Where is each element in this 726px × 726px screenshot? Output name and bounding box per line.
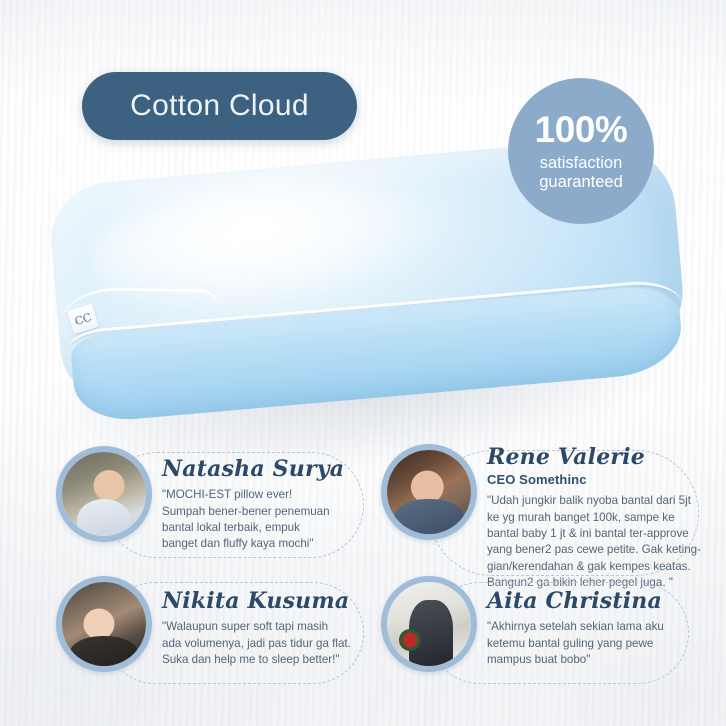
avatar-photo: [62, 582, 146, 666]
avatar-natasha-surya: [56, 446, 152, 542]
testimonial-card-natasha-surya: Natasha Surya "MOCHI-EST pillow ever! Su…: [56, 446, 356, 556]
testimonial-name: Rene Valerie: [487, 446, 715, 469]
page-title: Cotton Cloud: [130, 89, 309, 123]
testimonial-quote: "Walaupun super soft tapi masih ada volu…: [162, 619, 380, 668]
product-title-pill: Cotton Cloud: [82, 72, 357, 140]
avatar-nikita-kusuma: [56, 576, 152, 672]
testimonials-section: Natasha Surya "MOCHI-EST pillow ever! Su…: [0, 428, 726, 726]
testimonial-name: Aita Christina: [487, 590, 705, 613]
badge-line-1: satisfaction: [540, 154, 623, 173]
testimonial-quote: "MOCHI-EST pillow ever! Sumpah bener-ben…: [162, 487, 377, 553]
testimonial-name: Natasha Surya: [162, 458, 377, 481]
testimonial-card-rene-valerie: Rene Valerie CEO Somethinc "Udah jungkir…: [381, 444, 699, 572]
avatar-photo: [62, 452, 146, 536]
avatar-photo: [387, 450, 471, 534]
testimonial-quote: "Akhirnya setelah sekian lama aku ketemu…: [487, 619, 705, 668]
testimonial-card-aita-christina: Aita Christina "Akhirnya setelah sekian …: [381, 576, 699, 682]
avatar-aita-christina: [381, 576, 477, 672]
avatar-photo: [387, 582, 471, 666]
satisfaction-guarantee-badge: 100% satisfaction guaranteed: [508, 78, 654, 224]
testimonial-card-nikita-kusuma: Nikita Kusuma "Walaupun super soft tapi …: [56, 576, 356, 682]
product-promo-banner: CC Cotton Cloud 100% satisfaction guaran…: [0, 0, 726, 726]
avatar-rene-valerie: [381, 444, 477, 540]
badge-line-2: guaranteed: [539, 173, 623, 192]
testimonial-role: CEO Somethinc: [487, 472, 715, 487]
badge-percent: 100%: [535, 111, 628, 148]
testimonial-name: Nikita Kusuma: [162, 590, 380, 613]
